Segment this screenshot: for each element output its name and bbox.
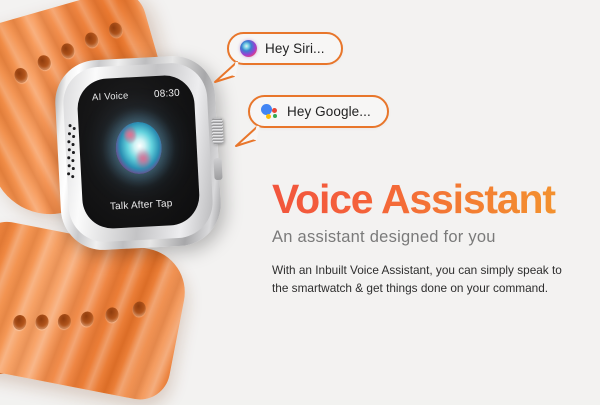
watch-clock: 08:30 xyxy=(154,88,181,100)
band-hole xyxy=(34,314,49,331)
band-hole xyxy=(12,314,27,331)
google-dot-red xyxy=(272,108,277,113)
speech-bubble-google: Hey Google... xyxy=(248,95,389,128)
band-hole xyxy=(57,313,72,330)
speech-bubble-text: Hey Siri... xyxy=(265,41,325,56)
band-hole xyxy=(79,311,94,328)
band-hole xyxy=(83,31,100,49)
watch-status-bar: AI Voice 08:30 xyxy=(92,88,180,104)
google-dot-green xyxy=(273,114,277,118)
subtitle: An assistant designed for you xyxy=(272,228,592,247)
marketing-copy-block: Voice Assistant An assistant designed fo… xyxy=(272,178,592,297)
speech-bubble-siri: Hey Siri... xyxy=(227,32,343,65)
promo-banner: AI Voice 08:30 Talk After Tap Hey xyxy=(0,0,600,400)
speech-bubble-tail xyxy=(234,124,260,148)
band-hole xyxy=(59,42,76,60)
siri-icon xyxy=(240,40,257,57)
band-hole xyxy=(107,21,124,39)
band-hole xyxy=(36,53,53,71)
band-hole xyxy=(13,66,30,84)
page-title: Voice Assistant xyxy=(272,178,592,221)
speaker-grille-icon xyxy=(64,122,83,185)
google-dot-yellow xyxy=(266,114,271,119)
speech-bubble-tail xyxy=(213,60,239,84)
google-assistant-icon xyxy=(261,103,279,120)
watch-app-label: AI Voice xyxy=(92,90,129,103)
description-text: With an Inbuilt Voice Assistant, you can… xyxy=(272,262,572,298)
band-hole xyxy=(104,306,119,323)
speech-bubble-text: Hey Google... xyxy=(287,104,371,119)
watch-case-inner: AI Voice 08:30 Talk After Tap xyxy=(61,61,214,243)
watch-side-button[interactable] xyxy=(213,158,222,180)
watch-digital-crown[interactable] xyxy=(211,118,223,145)
watch-hint-text: Talk After Tap xyxy=(83,197,200,214)
watch-screen[interactable]: AI Voice 08:30 Talk After Tap xyxy=(76,74,201,230)
